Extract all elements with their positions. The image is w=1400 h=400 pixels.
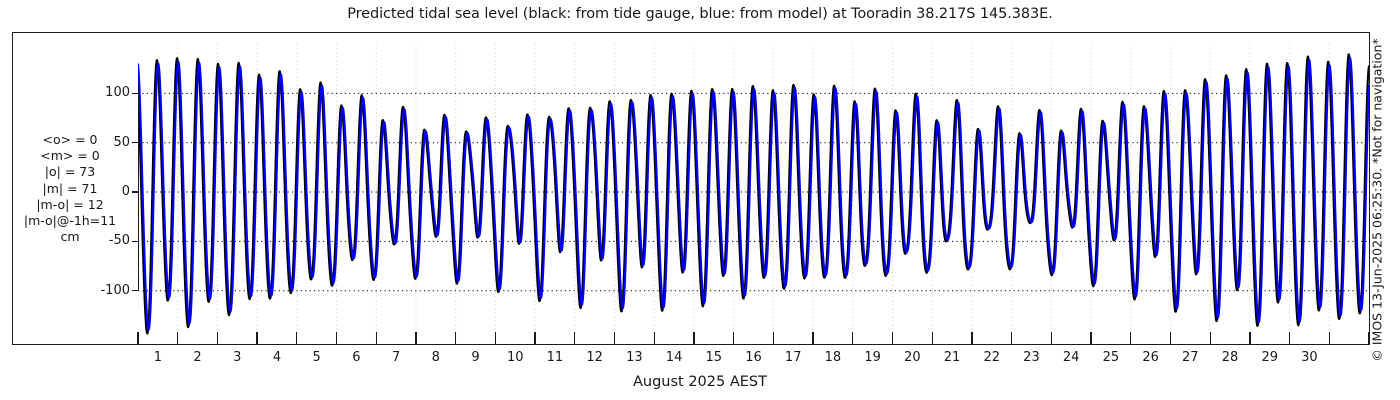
tide-plot-svg — [138, 44, 1369, 345]
x-tick-label: 13 — [626, 350, 643, 365]
x-tick-mark — [1249, 332, 1250, 344]
x-tick-mark — [654, 332, 655, 344]
statistics-annotation: <o> = 0<m> = 0|o| = 73|m| = 71|m-o| = 12… — [8, 132, 132, 245]
x-tick-mark — [574, 332, 575, 344]
x-tick-mark — [1051, 332, 1052, 344]
x-tick-label: 17 — [785, 350, 802, 365]
x-tick-mark — [1329, 332, 1330, 344]
x-tick-mark — [534, 332, 535, 344]
x-tick-label: 8 — [432, 350, 440, 365]
x-tick-label: 16 — [745, 350, 762, 365]
x-tick-mark — [773, 332, 774, 344]
x-tick-label: 5 — [313, 350, 321, 365]
x-tick-label: 18 — [825, 350, 842, 365]
x-tick-label: 6 — [352, 350, 360, 365]
x-tick-mark — [1289, 332, 1290, 344]
series-line-model — [138, 58, 1369, 329]
stat-line-1: <m> = 0 — [8, 148, 132, 164]
x-tick-label: 11 — [547, 350, 564, 365]
y-tick-mark — [132, 241, 138, 242]
x-tick-mark — [852, 332, 853, 344]
y-tick-mark — [132, 142, 138, 143]
x-tick-mark — [614, 332, 615, 344]
x-tick-label: 3 — [233, 350, 241, 365]
x-tick-mark — [1170, 332, 1171, 344]
x-tick-label: 4 — [273, 350, 281, 365]
y-tick-label: -100 — [100, 284, 130, 297]
x-tick-mark — [1130, 332, 1131, 344]
y-tick-label: 100 — [105, 86, 130, 99]
tidal-chart-figure: Predicted tidal sea level (black: from t… — [0, 0, 1400, 400]
x-tick-label: 22 — [983, 350, 1000, 365]
x-tick-label: 21 — [944, 350, 961, 365]
y-axis-spine — [138, 92, 139, 290]
x-tick-label: 20 — [904, 350, 921, 365]
x-tick-label: 24 — [1063, 350, 1080, 365]
copyright-notice: © IMOS 13-Jun-2025 06:25:30. *Not for na… — [1370, 38, 1385, 361]
x-tick-mark — [1210, 332, 1211, 344]
x-tick-label: 25 — [1103, 350, 1120, 365]
stat-line-6: cm — [8, 229, 132, 245]
x-tick-mark — [415, 332, 416, 344]
x-tick-mark — [137, 332, 138, 344]
x-tick-label: 1 — [154, 350, 162, 365]
x-tick-mark — [296, 332, 297, 344]
x-tick-mark — [217, 332, 218, 344]
stat-line-2: |o| = 73 — [8, 164, 132, 180]
stat-line-3: |m| = 71 — [8, 181, 132, 197]
x-tick-label: 9 — [471, 350, 479, 365]
page-title: Predicted tidal sea level (black: from t… — [0, 6, 1400, 22]
x-tick-label: 12 — [586, 350, 603, 365]
x-tick-mark — [812, 332, 813, 344]
x-tick-mark — [336, 332, 337, 344]
x-tick-mark — [693, 332, 694, 344]
x-tick-label: 29 — [1261, 350, 1278, 365]
x-tick-label: 15 — [706, 350, 723, 365]
x-tick-label: 23 — [1023, 350, 1040, 365]
x-tick-label: 30 — [1301, 350, 1318, 365]
x-tick-mark — [733, 332, 734, 344]
x-tick-label: 28 — [1222, 350, 1239, 365]
x-tick-mark — [932, 332, 933, 344]
x-tick-mark — [177, 332, 178, 344]
x-tick-mark — [455, 332, 456, 344]
plot-area — [138, 44, 1369, 345]
y-tick-mark — [132, 290, 138, 291]
y-tick-mark — [132, 93, 138, 94]
y-tick-mark — [132, 191, 138, 192]
x-tick-mark — [376, 332, 377, 344]
x-tick-label: 10 — [507, 350, 524, 365]
x-tick-mark — [892, 332, 893, 344]
stat-line-5: |m-o|@-1h=11 — [8, 213, 132, 229]
x-tick-label: 19 — [864, 350, 881, 365]
x-tick-mark — [971, 332, 972, 344]
x-tick-label: 7 — [392, 350, 400, 365]
x-tick-label: 2 — [193, 350, 201, 365]
x-tick-mark — [256, 332, 257, 344]
stat-line-0: <o> = 0 — [8, 132, 132, 148]
x-tick-mark — [495, 332, 496, 344]
stat-line-4: |m-o| = 12 — [8, 197, 132, 213]
x-tick-label: 14 — [666, 350, 683, 365]
x-tick-mark — [1011, 332, 1012, 344]
x-axis-spine — [13, 344, 1369, 345]
x-tick-label: 26 — [1142, 350, 1159, 365]
x-axis-title: August 2025 AEST — [0, 374, 1400, 390]
x-tick-label: 27 — [1182, 350, 1199, 365]
x-tick-mark — [1090, 332, 1091, 344]
